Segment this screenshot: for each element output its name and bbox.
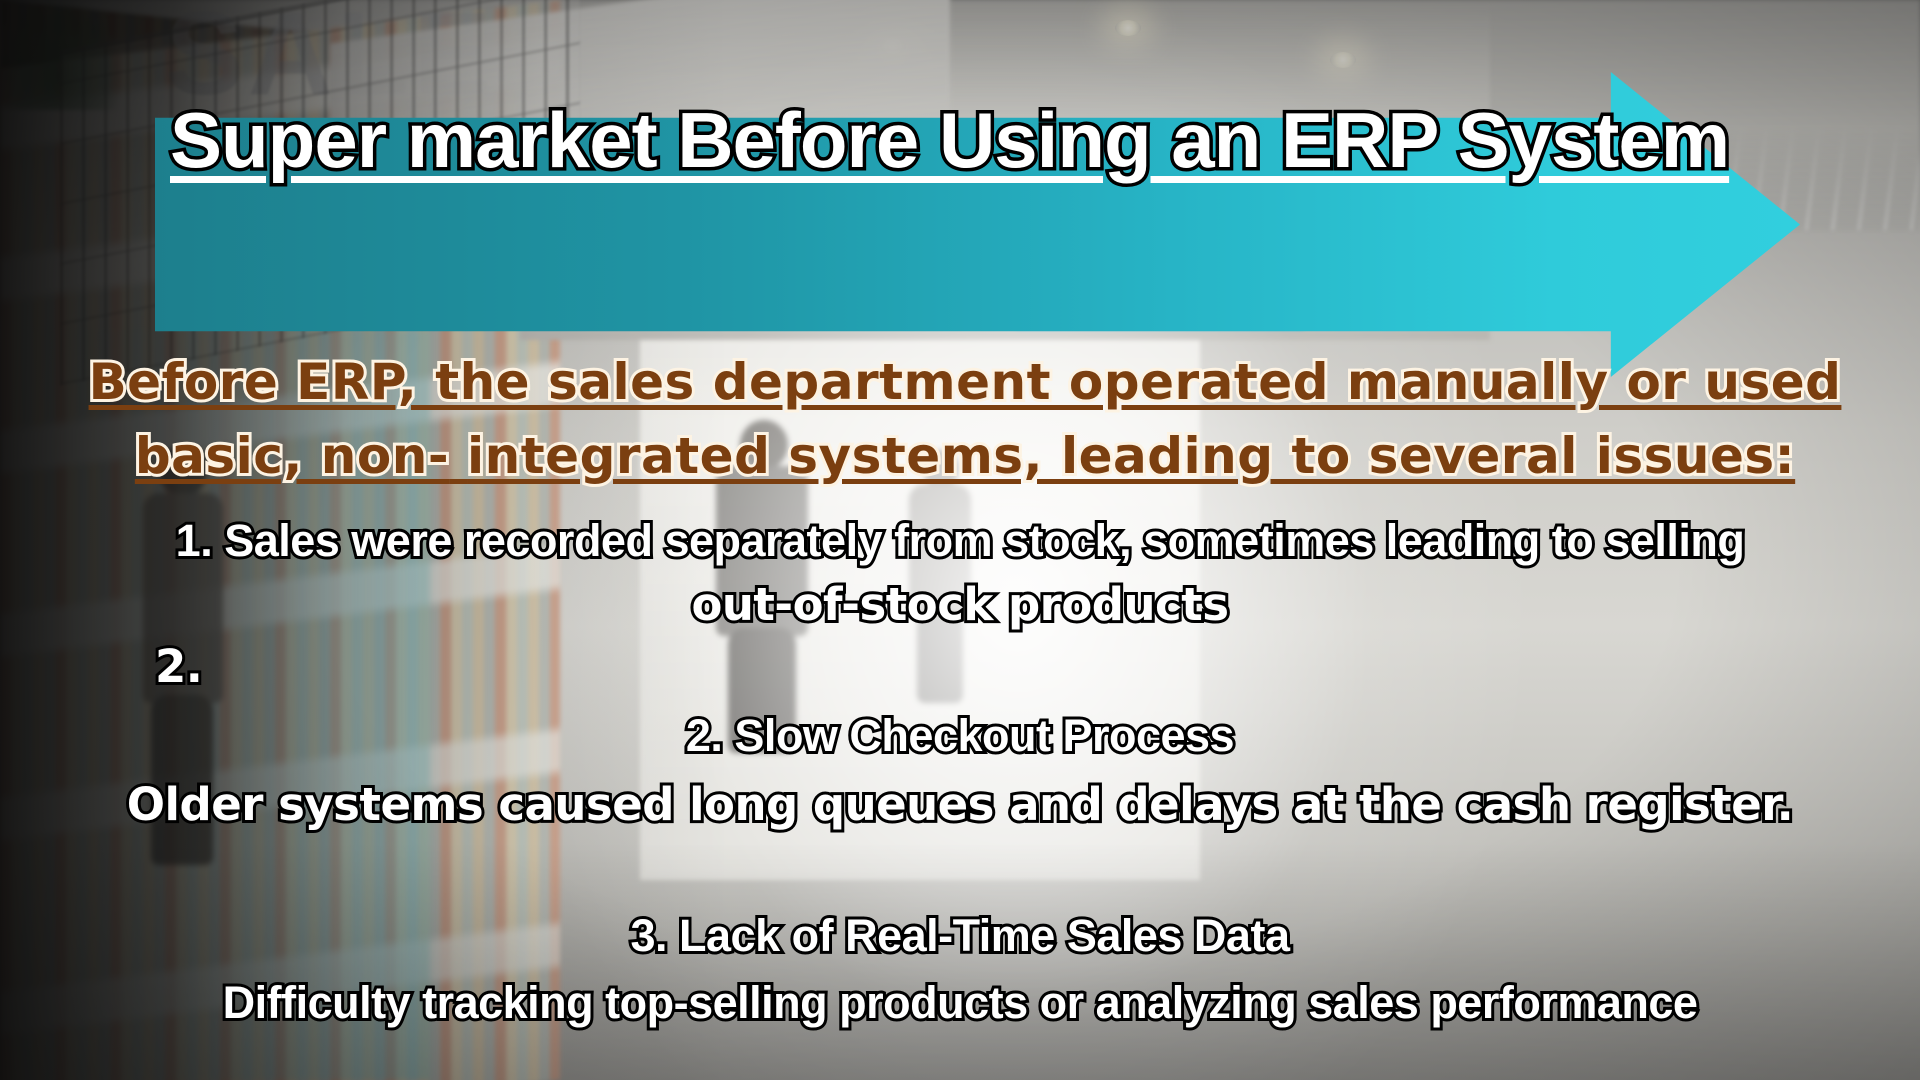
subtitle-line-2: integrated systems, leading to several i… (467, 427, 1795, 485)
list-item-1-line-2: out-of-stock products (40, 578, 1880, 631)
list-item-3-heading: 3. Lack of Real-Time Sales Data (40, 910, 1880, 962)
list-item-3-text: Difficulty tracking top-selling products… (40, 977, 1880, 1029)
list-item-2-heading: 2. Slow Checkout Process (40, 710, 1880, 762)
subtitle: Before ERP, the sales department operate… (50, 345, 1880, 493)
list-item-2-text: Older systems caused long queues and del… (40, 778, 1880, 831)
slide-canvas: SALE SALE 50% OFF Super market Before Us… (0, 0, 1920, 1080)
page-title: Super market Before Using an ERP System (170, 95, 1620, 186)
list-item-2-number: 2. (155, 640, 202, 693)
list-item-1-line-1: 1. Sales were recorded separately from s… (40, 515, 1880, 567)
